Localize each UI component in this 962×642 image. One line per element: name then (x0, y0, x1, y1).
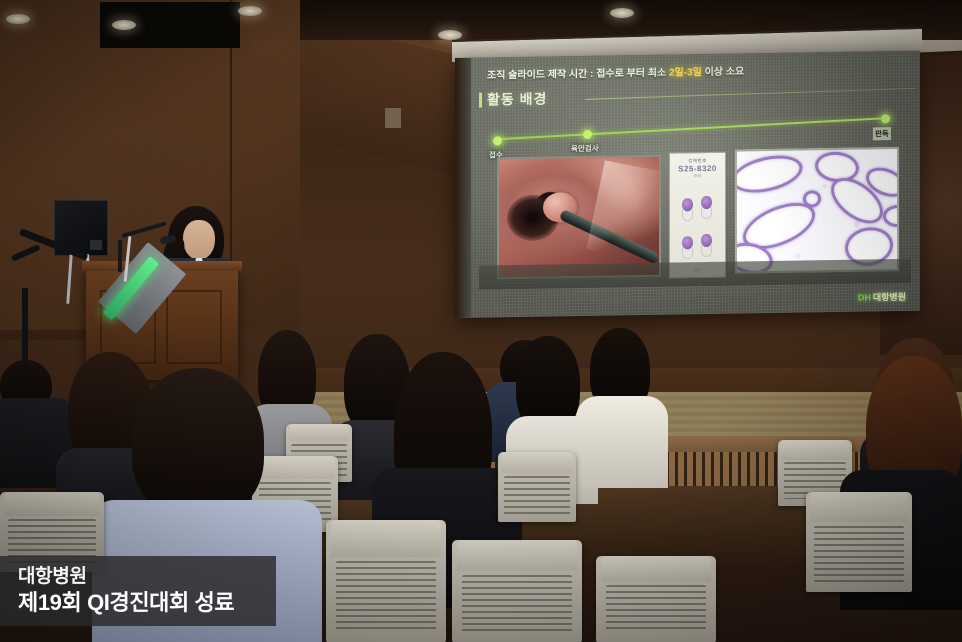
presenter-face (183, 220, 215, 260)
timeline-node-icon (881, 114, 890, 123)
slide-band-prefix: 조직 슬라이드 제작 시간 : 접수로 부터 최소 (487, 68, 669, 82)
ceiling-light-icon (438, 30, 462, 40)
timeline-label-2: 판독 (873, 127, 891, 140)
slide-title: 활동 배경 (487, 89, 547, 110)
chair-headrest (457, 540, 577, 571)
ceiling-light-icon (6, 14, 30, 24)
chair-headrest (781, 440, 849, 460)
chair-vents (814, 526, 903, 582)
presentation-slide: 활동 배경 접수 육안검사 판독 검체번호 S25-8320 조 (473, 57, 914, 314)
logo-text: 대항병원 (873, 290, 906, 304)
logo-mark: DH (858, 292, 871, 302)
specimen-card-sub: 조직 (670, 173, 725, 180)
chair-headrest (501, 452, 573, 473)
ceiling-light-icon (112, 20, 136, 30)
ceiling-light-icon (238, 6, 262, 16)
timeline-label-1: 육안검사 (571, 143, 599, 154)
endo-glare (586, 160, 661, 260)
specimen-card-number: S25-8320 (670, 164, 725, 174)
caption-overlay: 대항병원 제19회 QI경진대회 성료 (0, 556, 276, 626)
chair-headrest (601, 556, 711, 582)
screen-left-edge (455, 58, 471, 318)
specimen-outline (682, 209, 693, 221)
timeline-node-icon (493, 136, 502, 145)
histology-micrograph (735, 147, 899, 274)
caption-line-2: 제19회 QI경진대회 성료 (18, 589, 276, 617)
slide-band-highlight: 2일-3일 (669, 67, 702, 79)
person-torso (576, 396, 668, 488)
pathology-specimen-card: 검체번호 S25-8320 조직 조직 (669, 152, 726, 279)
slide-band-suffix: 이상 소요 (702, 66, 744, 78)
chair-vents (336, 561, 437, 629)
podium-panel (166, 290, 222, 364)
projection-screen: 활동 배경 접수 육안검사 판독 검체번호 S25-8320 조 (455, 51, 920, 318)
caption-line-1: 대항병원 (18, 564, 276, 589)
chair-headrest (255, 456, 334, 479)
hospital-logo: DH 대항병원 (858, 290, 906, 304)
chair-headrest (289, 424, 350, 441)
chair-vents (606, 585, 707, 633)
chair-headrest (4, 492, 100, 516)
wall-plate (385, 108, 401, 128)
slide-band-text: 조직 슬라이드 제작 시간 : 접수로 부터 최소 2일-3일 이상 소요 (487, 62, 744, 81)
specimen-outline (701, 245, 712, 257)
chair-headrest (810, 492, 908, 522)
ceiling-light-icon (610, 8, 634, 18)
podium-microphone-post (118, 240, 122, 272)
colonoscopy-polypectomy-photo (497, 155, 661, 280)
auditorium-chair (806, 492, 912, 592)
slide-title-row: 활동 배경 (479, 89, 547, 110)
specimen-outline (701, 207, 712, 219)
title-accent-bar (479, 92, 482, 107)
chair-headrest (331, 520, 441, 557)
auditorium-chair (596, 556, 716, 642)
timeline-line (495, 117, 887, 140)
conference-photo: 활동 배경 접수 육안검사 판독 검체번호 S25-8320 조 (0, 0, 962, 642)
auditorium-chair (498, 452, 576, 522)
slide-title-rule (585, 88, 915, 100)
specimen-outline (682, 247, 693, 259)
auditorium-chair (326, 520, 446, 642)
chair-vents (462, 575, 571, 632)
monitor-badge (90, 240, 102, 250)
person-hair (132, 368, 264, 518)
auditorium-chair (452, 540, 582, 642)
chair-vents (504, 476, 570, 515)
timeline-node-icon (583, 130, 592, 139)
